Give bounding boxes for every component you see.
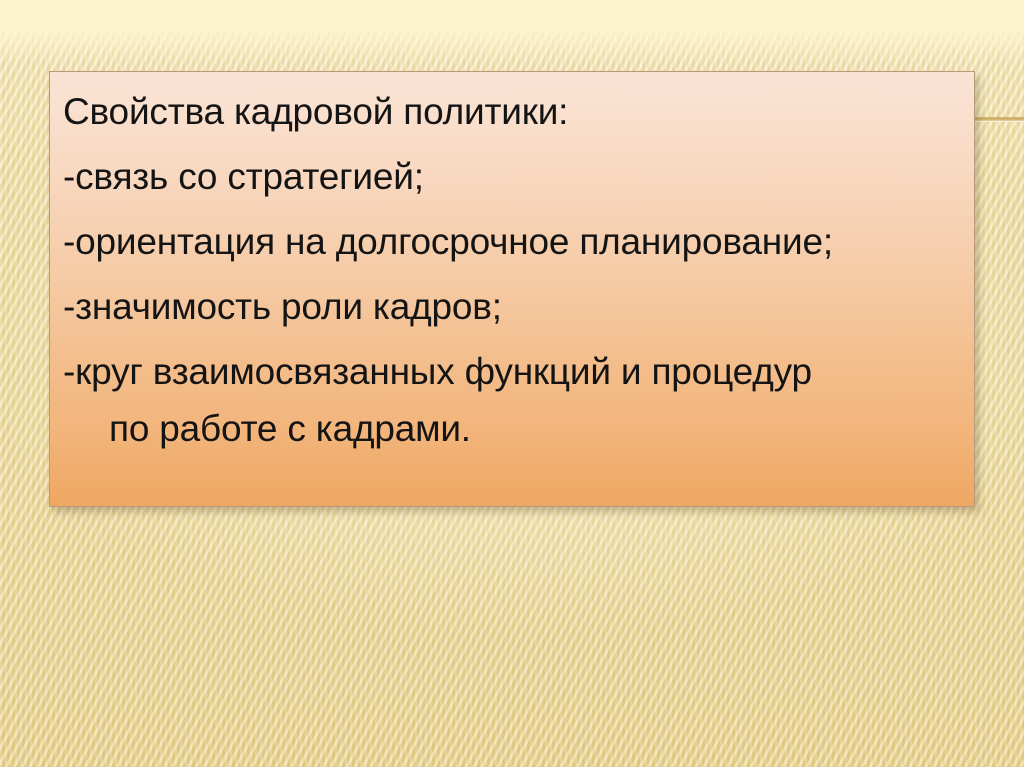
text-block: Свойства кадровой политики: -связь со ст… [63, 79, 964, 461]
bullet-item-3: -значимость роли кадров; [63, 274, 964, 339]
bullet-item-4: -круг взаимосвязанных функций и процедур [63, 339, 964, 404]
bullet-item-2: -ориентация на долгосрочное планирование… [63, 209, 964, 274]
bullet-item-1: -связь со стратегией; [63, 144, 964, 209]
slide-canvas: Свойства кадровой политики: -связь со ст… [0, 0, 1024, 767]
background-top-fade [0, 0, 1024, 62]
content-title: Свойства кадровой политики: [63, 79, 964, 144]
bullet-item-4-continuation: по работе с кадрами. [63, 396, 964, 461]
content-box: Свойства кадровой политики: -связь со ст… [49, 71, 975, 507]
accent-rule [975, 117, 1024, 121]
